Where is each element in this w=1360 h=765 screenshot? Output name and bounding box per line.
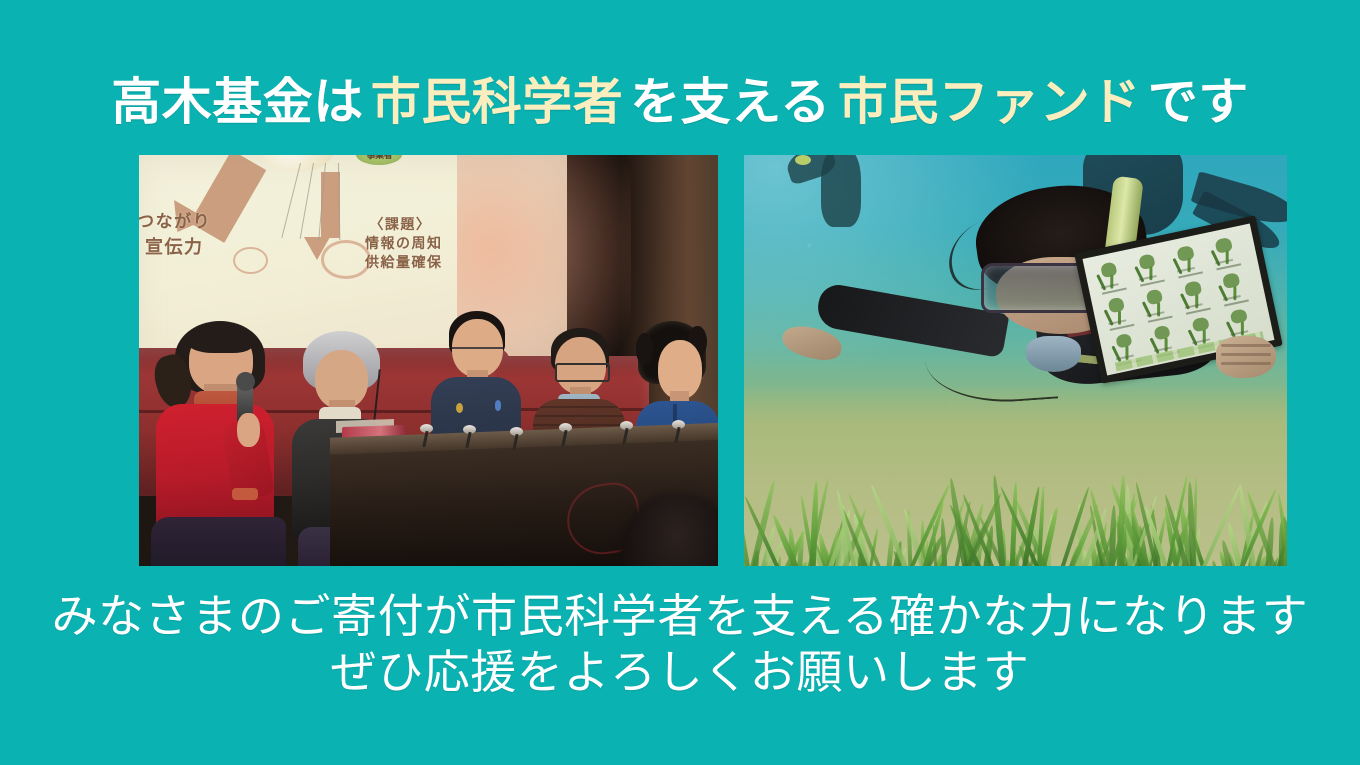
panel-discussion-photo: 事業者 のつながり 宣伝力 〈課題〉 情報の周知 供給量確保 [139,155,718,566]
equipment-lanyard [924,332,1058,408]
desk-microphone-3 [510,427,523,436]
seagrass-blade [1211,560,1220,566]
slide-leader-lines [286,163,365,240]
desk-microphone-6 [672,420,685,429]
slide-text-issue-1: 情報の周知 [365,233,443,253]
desk-microphone-4 [559,423,572,432]
slide-canvas: 高木基金は市民科学者を支える市民ファンドです 事業者 [0,0,1360,765]
title-segment-3: です [1148,74,1249,130]
slide-text-issue-2: 供給量確保 [365,252,443,272]
title-segment-2: を支える [630,74,831,130]
title-segment-highlight-2: 市民ファンド [838,74,1141,130]
donation-message-line-2: ぜひ応援をよろしくお願いします [0,644,1360,700]
slide-text-issue-heading: 〈課題〉 [369,214,431,234]
desk-microphone-5 [620,421,633,430]
page-title: 高木基金は市民科学者を支える市民ファンドです [0,74,1360,130]
title-segment-1: 高木基金は [111,74,364,130]
slide-text-connection: のつながり [139,207,211,232]
underwater-survey-photo [744,155,1287,566]
donation-message: みなさまのご寄付が市民科学者を支える確かな力になります ぜひ応援をよろしくお願い… [0,588,1360,700]
slide-text-promotion: 宣伝力 [145,233,204,259]
donation-message-line-1: みなさまのご寄付が市民科学者を支える確かな力になります [0,588,1360,644]
title-segment-highlight-1: 市民科学者 [371,74,624,130]
photo-row: 事業者 のつながり 宣伝力 〈課題〉 情報の周知 供給量確保 [99,139,1247,550]
slide-ring-graphic [321,240,371,279]
diver-right-hand [1216,336,1276,377]
panelist-speaking-with-microphone [151,324,325,566]
slide-ring-graphic-2 [233,247,268,274]
seagrass-meadow [744,410,1287,566]
